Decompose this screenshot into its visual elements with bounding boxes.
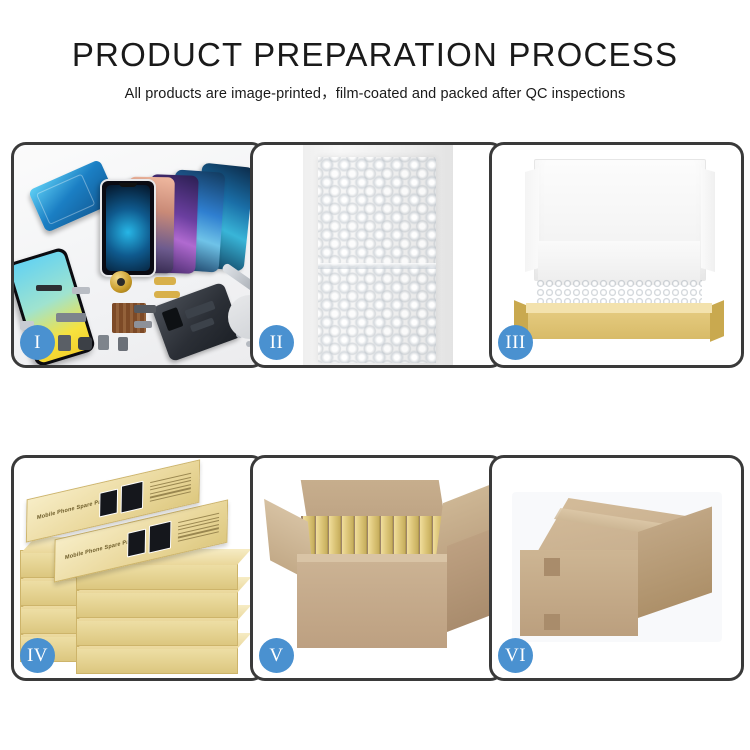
step-badge-6: VI bbox=[498, 638, 533, 673]
box-label-top: Mobile Phone Spare Parts bbox=[37, 497, 109, 521]
kraft-box-tray-edge bbox=[526, 303, 712, 313]
box-screen-image-2 bbox=[121, 481, 144, 514]
steps-grid: I II III bbox=[11, 142, 739, 682]
product-preparation-infographic: PRODUCT PREPARATION PROCESS All products… bbox=[0, 0, 750, 750]
part-connector bbox=[36, 285, 62, 291]
carton-side-panel bbox=[447, 530, 489, 632]
part-shield bbox=[118, 337, 128, 351]
header: PRODUCT PREPARATION PROCESS All products… bbox=[0, 0, 750, 102]
part-flex-cable-1 bbox=[154, 277, 176, 285]
step-panel-3: III bbox=[489, 142, 744, 368]
box-screen-image-3 bbox=[127, 529, 146, 558]
part-clip bbox=[134, 321, 152, 328]
step-badge-4: IV bbox=[20, 638, 55, 673]
carton-handle-cut-2 bbox=[544, 614, 560, 630]
speaker-coil-part bbox=[110, 271, 132, 293]
carton-front-panel bbox=[297, 562, 447, 648]
page-subtitle: All products are image-printed，film-coat… bbox=[0, 71, 750, 102]
sealed-carton-front bbox=[520, 550, 638, 636]
box-spec-list-front bbox=[178, 513, 219, 545]
step-panel-5: V bbox=[250, 455, 505, 681]
phone-screen-fan bbox=[92, 163, 263, 283]
step-badge-5: V bbox=[259, 638, 294, 673]
step-badge-2: II bbox=[259, 325, 294, 360]
stacked-box-r4 bbox=[76, 618, 238, 646]
step-panel-4: Mobile Phone Spare Parts Mobile Phone Sp… bbox=[11, 455, 266, 681]
step-panel-2: II bbox=[250, 142, 505, 368]
screen-notch bbox=[119, 183, 137, 187]
stacked-box-r5 bbox=[76, 646, 238, 674]
step-panel-6: VI bbox=[489, 455, 744, 681]
part-bracket bbox=[72, 287, 90, 294]
part-flex-cable-2 bbox=[154, 291, 180, 298]
box-spec-list-top bbox=[150, 473, 191, 505]
part-sensor bbox=[98, 335, 109, 350]
step-badge-1: I bbox=[20, 325, 55, 360]
part-sim-tray bbox=[58, 335, 71, 351]
part-button bbox=[78, 337, 92, 350]
page-title: PRODUCT PREPARATION PROCESS bbox=[0, 0, 750, 71]
part-antenna bbox=[134, 305, 156, 313]
bubble-wrap-sleeve bbox=[318, 157, 436, 363]
phone-screen-1 bbox=[100, 179, 156, 277]
step-badge-3: III bbox=[498, 325, 533, 360]
bubble-wrap-seam bbox=[318, 263, 436, 269]
part-ribbon bbox=[56, 313, 86, 322]
box-screen-image-1 bbox=[99, 489, 118, 518]
stacked-box-r3 bbox=[76, 590, 238, 618]
box-label-front: Mobile Phone Spare Parts bbox=[65, 537, 137, 561]
step-panel-1: I bbox=[11, 142, 266, 368]
box-screen-image-4 bbox=[149, 521, 172, 554]
carton-handle-cut-1 bbox=[544, 558, 560, 576]
